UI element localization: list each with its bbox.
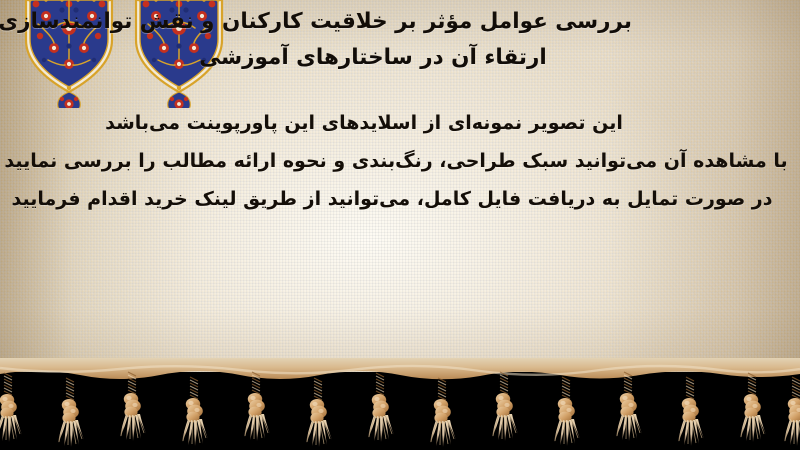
body-line-1: این تصویر نمونه‌ای از اسلایدهای این پاور… <box>0 104 800 142</box>
title-line-2: ارتقاء آن در ساختارهای آموزشی <box>22 40 782 76</box>
slide-body: این تصویر نمونه‌ای از اسلایدهای این پاور… <box>0 104 800 218</box>
fringe-svg <box>0 358 800 450</box>
fringe-black-field <box>0 372 800 450</box>
body-line-2: با مشاهده آن می‌توانید سبک طراحی، رنگ‌بن… <box>0 142 800 180</box>
slide-text-layer: بررسی عوامل مؤثر بر خلاقیت کارکنان و نقش… <box>0 0 800 386</box>
title-line-1: بررسی عوامل مؤثر بر خلاقیت کارکنان و نقش… <box>22 4 782 40</box>
slide-title: بررسی عوامل مؤثر بر خلاقیت کارکنان و نقش… <box>22 4 782 76</box>
body-line-3: در صورت تمایل به دریافت فایل کامل، می‌تو… <box>0 180 800 218</box>
carpet-tassel-fringe <box>0 358 800 450</box>
presentation-slide: بررسی عوامل مؤثر بر خلاقیت کارکنان و نقش… <box>0 0 800 450</box>
